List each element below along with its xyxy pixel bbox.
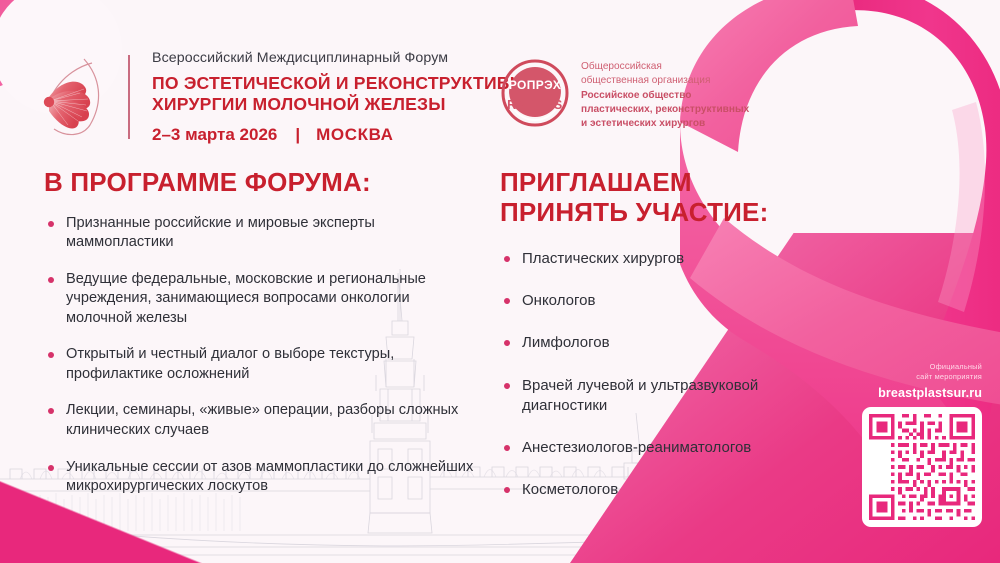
list-item: Уникальные сессии от азов маммопластики …: [44, 458, 474, 497]
program-column: В ПРОГРАММЕ ФОРУМА: Признанные российски…: [44, 168, 474, 514]
event-dateline: 2–3 марта 2026 | МОСКВА: [152, 125, 549, 145]
org-line-5: и эстетических хирургов: [581, 117, 749, 131]
qr-caption: Официальный сайт мероприятия: [850, 362, 982, 382]
list-item: Онкологов: [500, 291, 830, 311]
invitation-heading-line1: ПРИГЛАШАЕМ: [500, 168, 830, 198]
list-item: Лимфологов: [500, 333, 830, 353]
list-item: Ведущие федеральные, московские и регион…: [44, 270, 474, 329]
event-title: ПО ЭСТЕТИЧЕСКОЙ И РЕКОНСТРУКТИВНОЙ ХИРУР…: [152, 73, 549, 116]
org-line-3: Российское общество: [581, 89, 749, 103]
qr-caption-line2: сайт мероприятия: [850, 372, 982, 382]
list-item: Открытый и честный диалог о выборе текст…: [44, 345, 474, 384]
program-heading: В ПРОГРАММЕ ФОРУМА:: [44, 168, 474, 198]
list-item: Врачей лучевой и ультразвуковой диагност…: [500, 376, 830, 416]
org-line-2: общественная организация: [581, 74, 749, 88]
qr-block[interactable]: Официальный сайт мероприятия breastplast…: [850, 362, 982, 527]
header-text-block: Всероссийский Междисциплинарный Форум ПО…: [152, 50, 549, 145]
invitation-list: Пластических хирургов Онкологов Лимфолог…: [500, 249, 830, 500]
svg-text:RSPRAS: RSPRAS: [507, 98, 563, 112]
qr-code-icon[interactable]: [862, 407, 982, 527]
list-item: Признанные российские и мировые эксперты…: [44, 214, 474, 253]
invitation-heading: ПРИГЛАШАЕМ ПРИНЯТЬ УЧАСТИЕ:: [500, 168, 830, 227]
list-item: Анестезиологов-реаниматологов: [500, 438, 830, 458]
invitation-column: ПРИГЛАШАЕМ ПРИНЯТЬ УЧАСТИЕ: Пластических…: [500, 168, 830, 522]
website-url[interactable]: breastplastsur.ru: [850, 386, 982, 400]
svg-text:РОПРЭХ: РОПРЭХ: [509, 78, 561, 92]
program-list: Признанные российские и мировые эксперты…: [44, 214, 474, 497]
event-kicker: Всероссийский Междисциплинарный Форум: [152, 50, 549, 66]
dateline-separator: |: [295, 125, 300, 145]
org-line-4: пластических, реконструктивных: [581, 103, 749, 117]
org-line-1: Общероссийская: [581, 60, 749, 74]
event-title-line1: ПО ЭСТЕТИЧЕСКОЙ И РЕКОНСТРУКТИВНОЙ: [152, 73, 549, 94]
event-title-line2: ХИРУРГИИ МОЛОЧНОЙ ЖЕЛЕЗЫ: [152, 94, 549, 115]
list-item: Косметологов: [500, 480, 830, 500]
list-item: Лекции, семинары, «живые» операции, разб…: [44, 401, 474, 440]
organization-name: Общероссийская общественная организация …: [581, 57, 749, 132]
breast-flower-icon: [40, 55, 114, 139]
event-date: 2–3 марта 2026: [152, 125, 277, 145]
qr-caption-line1: Официальный: [850, 362, 982, 372]
invitation-heading-line2: ПРИНЯТЬ УЧАСТИЕ:: [500, 198, 830, 228]
organization-block: РОПРЭХ RSPRAS Общероссийская общественна…: [500, 57, 749, 132]
list-item: Пластических хирургов: [500, 249, 830, 269]
rspras-seal-icon: РОПРЭХ RSPRAS: [500, 57, 570, 129]
header-divider: [128, 55, 130, 139]
event-city: МОСКВА: [316, 125, 393, 145]
poster-canvas: Всероссийский Междисциплинарный Форум ПО…: [0, 0, 1000, 563]
poster-header: Всероссийский Междисциплинарный Форум ПО…: [40, 50, 549, 145]
